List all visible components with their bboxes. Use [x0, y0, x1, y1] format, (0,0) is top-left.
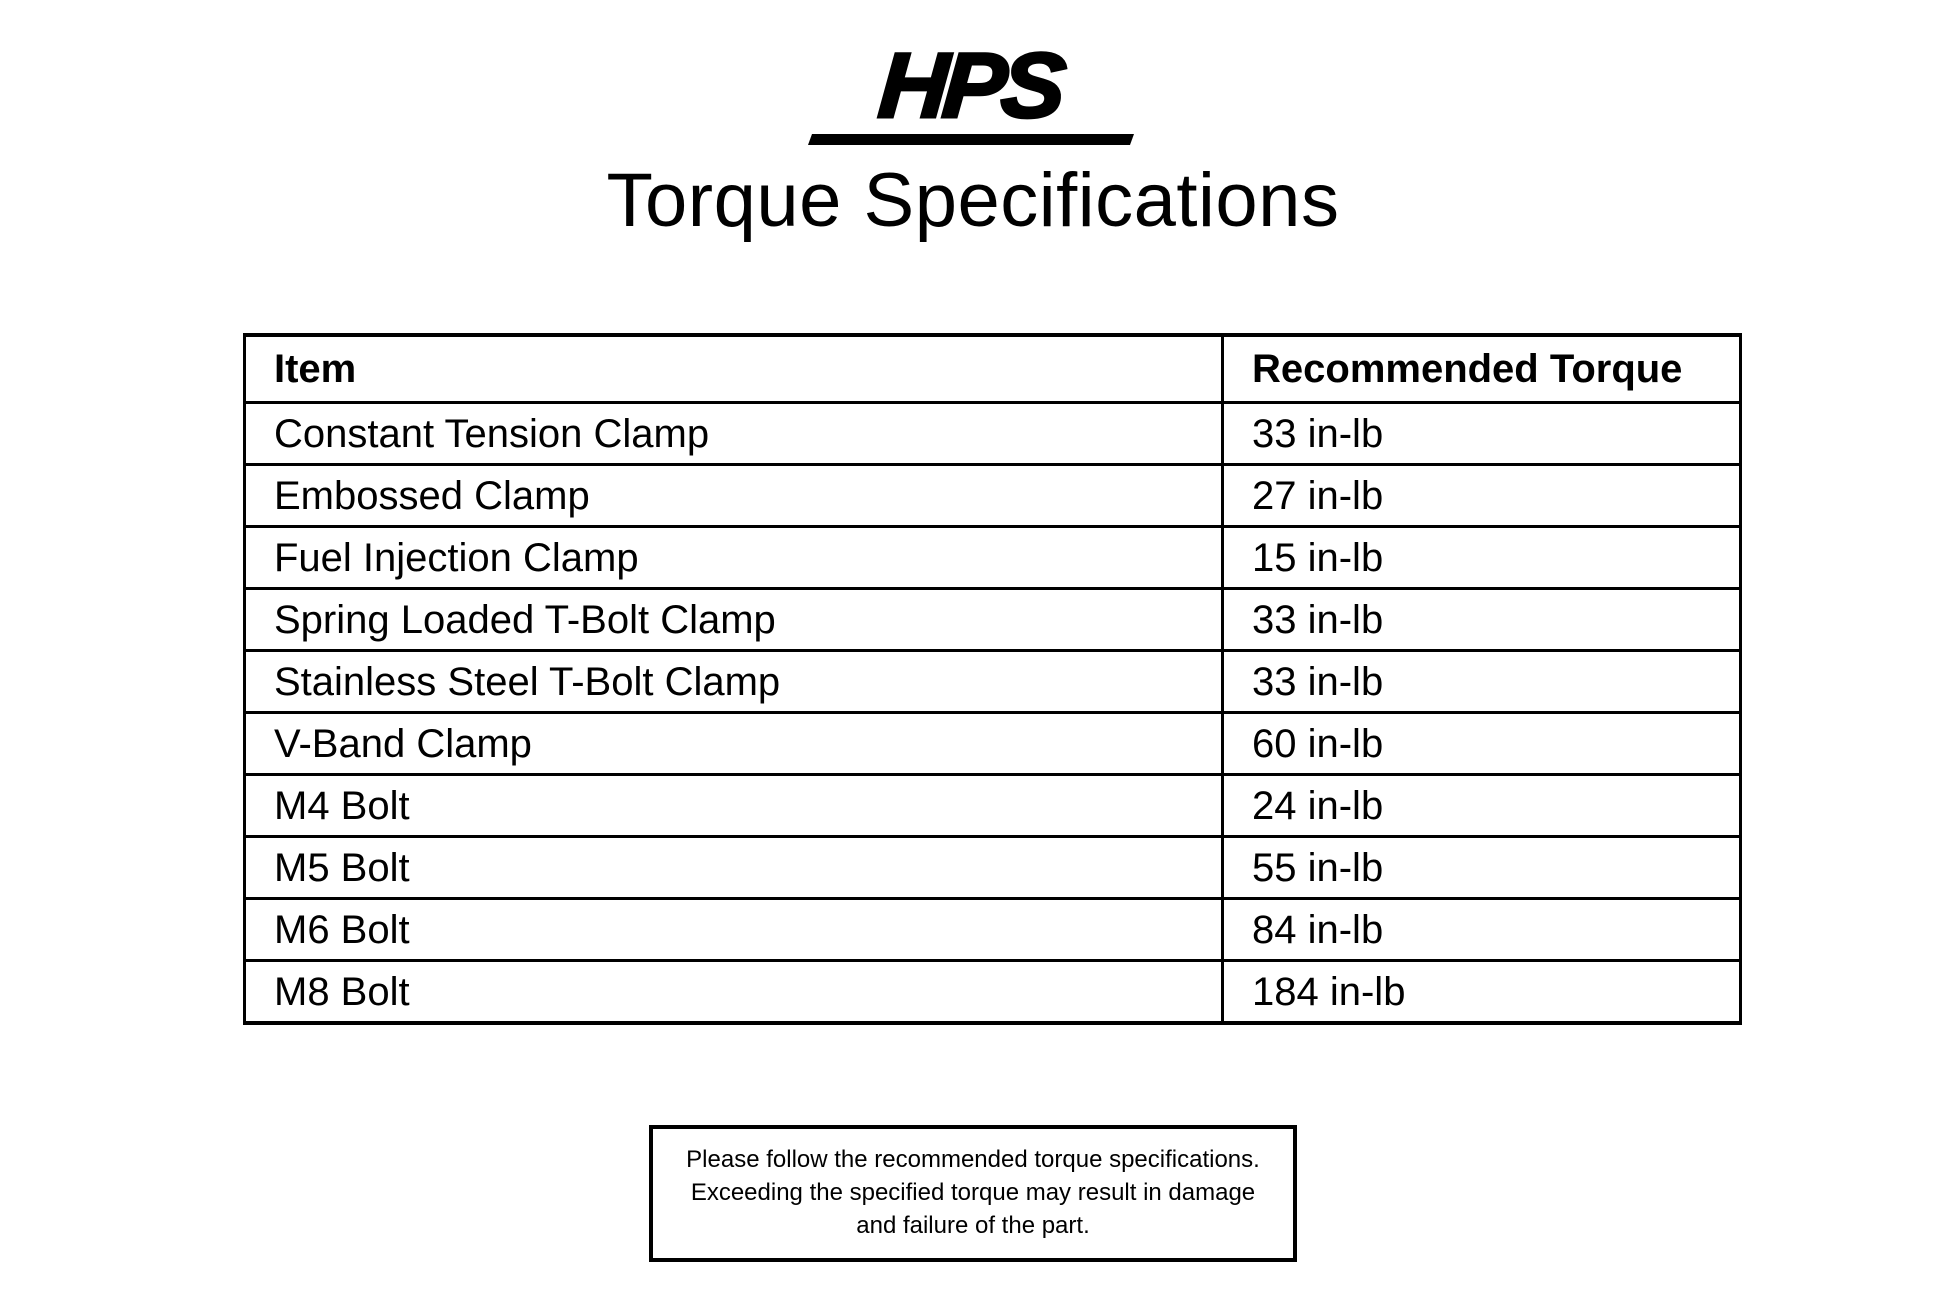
cell-torque: 84 in-lb — [1223, 899, 1741, 961]
cell-item: Spring Loaded T-Bolt Clamp — [245, 589, 1223, 651]
table-row: V-Band Clamp 60 in-lb — [245, 713, 1741, 775]
table-row: Fuel Injection Clamp 15 in-lb — [245, 527, 1741, 589]
cell-item: Fuel Injection Clamp — [245, 527, 1223, 589]
table-body: Constant Tension Clamp 33 in-lb Embossed… — [245, 403, 1741, 1024]
table-row: Spring Loaded T-Bolt Clamp 33 in-lb — [245, 589, 1741, 651]
cell-item: Stainless Steel T-Bolt Clamp — [245, 651, 1223, 713]
note-line-3: and failure of the part. — [671, 1209, 1275, 1242]
cell-item: V-Band Clamp — [245, 713, 1223, 775]
note-line-1: Please follow the recommended torque spe… — [671, 1143, 1275, 1176]
cell-torque: 27 in-lb — [1223, 465, 1741, 527]
hps-logo-mark: HPS — [808, 40, 1138, 145]
cell-item: M5 Bolt — [245, 837, 1223, 899]
cell-torque: 60 in-lb — [1223, 713, 1741, 775]
table-row: Embossed Clamp 27 in-lb — [245, 465, 1741, 527]
table-row: M4 Bolt 24 in-lb — [245, 775, 1741, 837]
hps-wordmark-text: HPS — [795, 40, 1145, 132]
cell-torque: 15 in-lb — [1223, 527, 1741, 589]
cell-item: M6 Bolt — [245, 899, 1223, 961]
cell-torque: 33 in-lb — [1223, 403, 1741, 465]
cell-torque: 24 in-lb — [1223, 775, 1741, 837]
brand-logo: HPS — [0, 40, 1946, 145]
cell-item: Embossed Clamp — [245, 465, 1223, 527]
note-line-2: Exceeding the specified torque may resul… — [671, 1176, 1275, 1209]
cell-torque: 55 in-lb — [1223, 837, 1741, 899]
table-row: Stainless Steel T-Bolt Clamp 33 in-lb — [245, 651, 1741, 713]
cell-item: M4 Bolt — [245, 775, 1223, 837]
table-header-row: Item Recommended Torque — [245, 335, 1741, 403]
logo-underline-bar — [808, 134, 1134, 145]
torque-spec-table-container: Item Recommended Torque Constant Tension… — [243, 333, 1739, 1025]
warning-note-box: Please follow the recommended torque spe… — [649, 1125, 1297, 1262]
column-header-item: Item — [245, 335, 1223, 403]
footer-note-container: Please follow the recommended torque spe… — [0, 1125, 1946, 1262]
table-row: M5 Bolt 55 in-lb — [245, 837, 1741, 899]
cell-item: M8 Bolt — [245, 961, 1223, 1024]
cell-torque: 33 in-lb — [1223, 651, 1741, 713]
cell-item: Constant Tension Clamp — [245, 403, 1223, 465]
cell-torque: 184 in-lb — [1223, 961, 1741, 1024]
column-header-torque: Recommended Torque — [1223, 335, 1741, 403]
torque-spec-table: Item Recommended Torque Constant Tension… — [243, 333, 1742, 1025]
cell-torque: 33 in-lb — [1223, 589, 1741, 651]
table-row: Constant Tension Clamp 33 in-lb — [245, 403, 1741, 465]
table-row: M6 Bolt 84 in-lb — [245, 899, 1741, 961]
page-title: Torque Specifications — [0, 158, 1946, 244]
table-row: M8 Bolt 184 in-lb — [245, 961, 1741, 1024]
